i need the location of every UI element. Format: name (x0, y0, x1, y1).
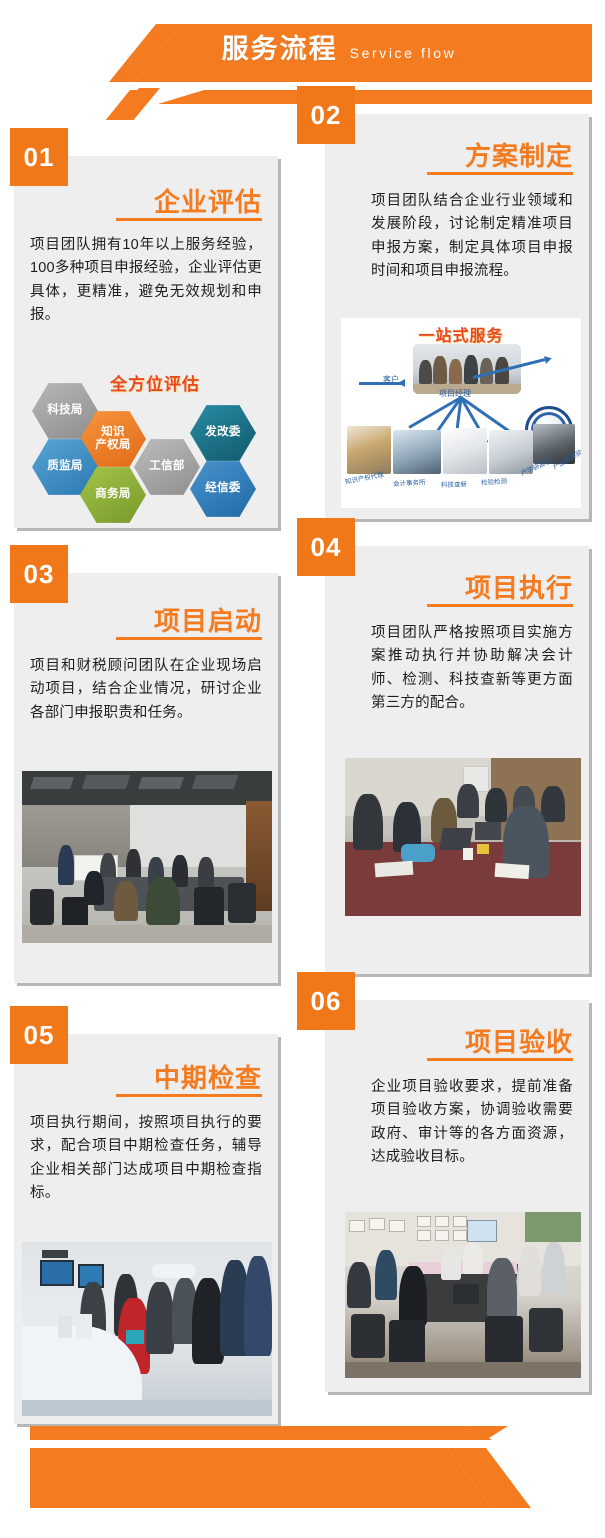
one-stop-service-title: 一站式服务 (341, 322, 581, 346)
card-number-badge: 04 (297, 518, 355, 576)
title-underline (427, 604, 573, 607)
hexagon-diagram-title: 全方位评估 (110, 370, 200, 395)
card-photo (22, 1242, 272, 1416)
node-label-client: 客户 (383, 374, 399, 385)
node-label-manager: 项目经理 (439, 388, 471, 399)
flow-arrow (408, 396, 461, 429)
hexagon-diagram: 全方位评估 科技局 知识 产权局 发改委 质监局 工信部 商务局 经信委 (22, 368, 272, 520)
process-card-01: 01 企业评估 项目团队拥有10年以上服务经验，100多种项目申报经验，企业评估… (14, 156, 278, 528)
thumb-tech-search (443, 428, 487, 474)
title-underline (427, 172, 573, 175)
card-title: 中期检查 (154, 1058, 262, 1095)
infographic-page: 服务流程 Service flow 01 企业评估 项目团队拥有10年以上服务经… (0, 0, 605, 1538)
flow-arrowhead (544, 354, 553, 363)
process-card-03: 03 项目启动 项目和财税顾问团队在企业现场启动项目，结合企业情况，研讨企业各部… (14, 573, 278, 983)
one-stop-service-diagram: 一站式服务 (341, 318, 581, 508)
hexagon-item-4: 工信部 (134, 438, 200, 496)
card-title: 方案制定 (465, 136, 573, 173)
title-underline (116, 218, 262, 221)
footer-banner: 全国统一热线： 400-150-1560 (0, 1424, 605, 1538)
card-body-text: 企业项目验收要求，提前准备项目验收方案，协调验收需要政府、审计等的各方面资源，达… (371, 1076, 573, 1170)
card-title: 项目启动 (154, 601, 262, 638)
bottom-label-2: 科技查新 (441, 479, 467, 489)
card-photo (345, 1212, 581, 1378)
card-photo (345, 758, 581, 916)
card-body-text: 项目执行期间，按照项目执行的要求，配合项目中期检查任务，辅导企业相关部门达成项目… (30, 1112, 262, 1206)
process-card-02: 02 方案制定 项目团队结合企业行业领域和发展阶段，讨论制定精准项目申报方案，制… (325, 114, 589, 519)
card-number-badge: 01 (10, 128, 68, 186)
card-number-badge: 03 (10, 545, 68, 603)
process-card-06: 06 项目验收 企业项目验收要求，提前准备项目验收方案，协调验收需要政府、审计等… (325, 1000, 589, 1392)
card-title: 企业评估 (154, 182, 262, 219)
hexagon-item-6: 经信委 (190, 460, 256, 518)
bottom-label-1: 会计事务所 (393, 476, 426, 488)
footer-banner-shape (0, 1424, 605, 1538)
process-card-05: 05 中期检查 项目执行期间，按照项目执行的要求，配合项目中期检查任务，辅导企业… (14, 1034, 278, 1424)
thumb-ip-agency (347, 426, 391, 474)
card-title: 项目验收 (465, 1022, 573, 1059)
card-photo (22, 771, 272, 943)
card-number-badge: 02 (297, 86, 355, 144)
title-underline (116, 637, 262, 640)
flow-arrowhead (398, 379, 405, 387)
card-body-text: 项目团队结合企业行业领域和发展阶段，讨论制定精准项目申报方案，制定具体项目申报时… (371, 190, 573, 284)
card-body-text: 项目团队拥有10年以上服务经验，100多种项目申报经验，企业评估更具体，更精准，… (30, 234, 262, 328)
process-card-04: 04 项目执行 项目团队严格按照项目实施方案推动执行并协助解决会计师、检测、科技… (325, 546, 589, 974)
hexagon-item-2: 发改委 (190, 404, 256, 462)
card-number-badge: 05 (10, 1006, 68, 1064)
thumb-accounting (393, 430, 441, 474)
title-underline (116, 1094, 262, 1097)
cards-grid: 01 企业评估 项目团队拥有10年以上服务经验，100多种项目申报经验，企业评估… (0, 0, 605, 1538)
bottom-label-3: 检验检测 (481, 475, 508, 487)
title-underline (427, 1058, 573, 1061)
card-body-text: 项目和财税顾问团队在企业现场启动项目，结合企业情况，研讨企业各部门申报职责和任务… (30, 655, 262, 725)
card-title: 项目执行 (465, 568, 573, 605)
card-number-badge: 06 (297, 972, 355, 1030)
card-body-text: 项目团队严格按照项目实施方案推动执行并协助解决会计师、检测、科技查新等更方面第三… (371, 622, 573, 716)
